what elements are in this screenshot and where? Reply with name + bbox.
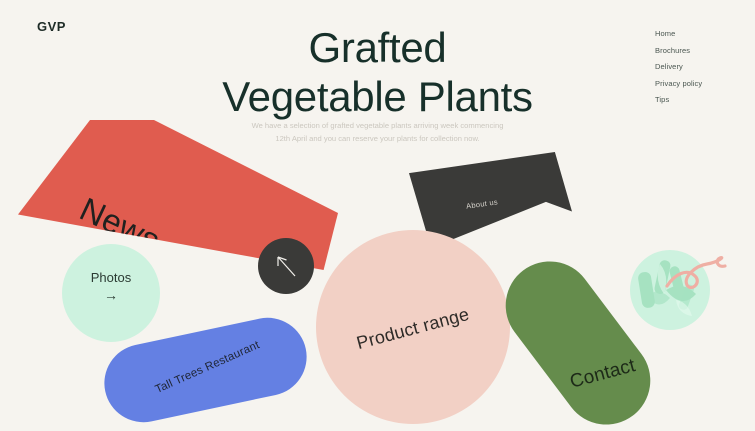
page-title-line-2: Vegetable Plants [0, 72, 755, 121]
tile-product-range[interactable]: Product range [316, 230, 510, 424]
arrow-up-left-icon [275, 254, 297, 278]
squiggle-decoration-icon [665, 252, 735, 300]
tile-about-label: About us [466, 197, 499, 210]
tile-restaurant-label: Tall Trees Restaurant [153, 340, 261, 397]
landing-page: GVP Home Brochures Delivery Privacy poli… [0, 0, 755, 431]
tile-photos-label: Photos [62, 270, 160, 285]
page-subtitle: We have a selection of grafted vegetable… [247, 119, 509, 145]
arrow-up-left-button[interactable] [258, 238, 314, 294]
tile-photos-content: Photos → [62, 270, 160, 304]
page-title-line-1: Grafted [309, 24, 447, 71]
page-title: Grafted Vegetable Plants [0, 23, 755, 121]
tile-contact-label: Contact [568, 355, 638, 394]
tile-product-label: Product range [354, 304, 471, 354]
tile-photos[interactable]: Photos → [62, 244, 160, 342]
arrow-right-icon: → [62, 287, 160, 304]
